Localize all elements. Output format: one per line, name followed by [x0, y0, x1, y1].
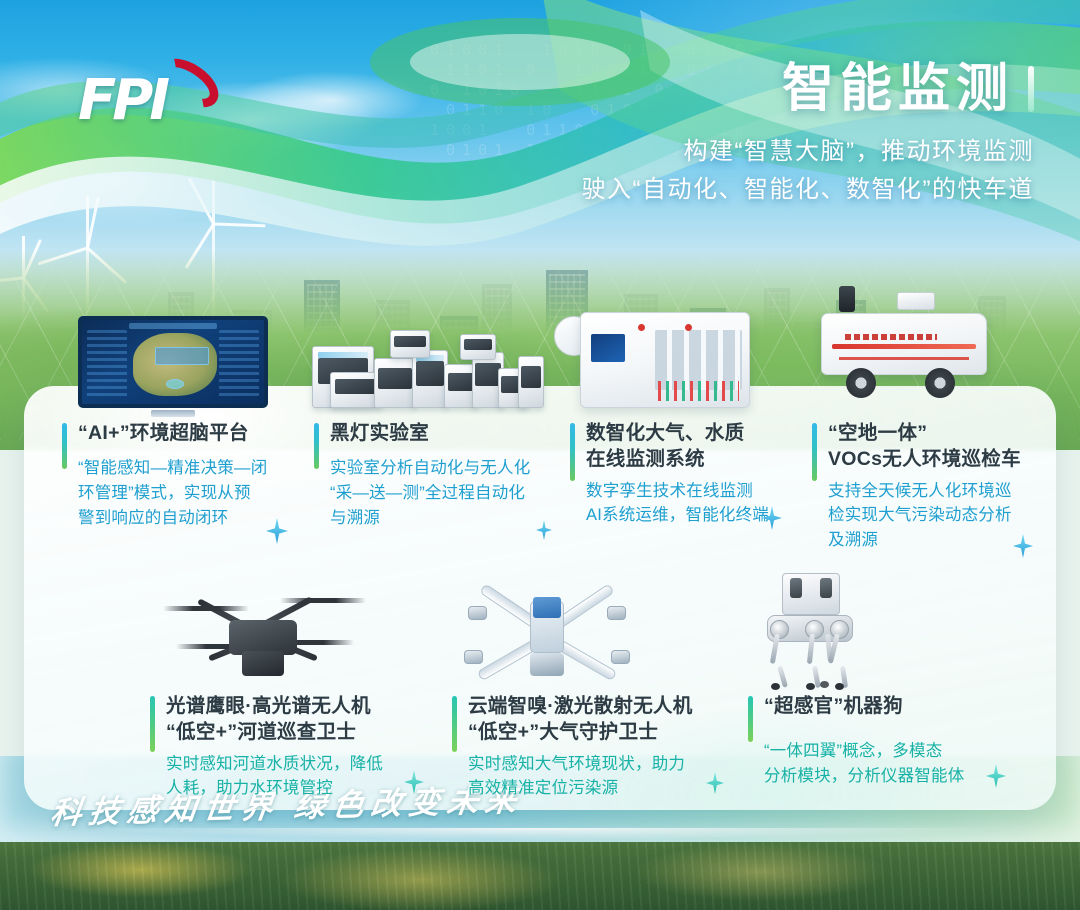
card-accent-bar: [150, 696, 155, 752]
sparkle-icon: [266, 518, 288, 544]
poster-header: 智能监测 构建“智慧大脑”，推动环境监测 驶入“自动化、智能化、数智化”的快车道: [582, 58, 1034, 208]
card-accent-bar: [570, 423, 575, 481]
feature-card-6[interactable]: 云端智嗅·激光散射无人机 “低空+”大气守护卫士 实时感知大气环境现状，助力 高…: [452, 693, 724, 801]
sparkle-icon: [986, 764, 1006, 788]
card-accent-bar: [748, 696, 753, 742]
page-title-text: 智能监测: [782, 60, 1014, 118]
feature-card-1[interactable]: “AI+”环境超脑平台 “智能感知—精准决策—闭 环管理”模式，实现从预 警到响…: [62, 420, 306, 531]
header-subtitle-line2: 驶入“自动化、智能化、数智化”的快车道: [582, 172, 1034, 208]
card-title: “空地一体” VOCs无人环境巡检车: [812, 420, 1044, 473]
sparkle-icon: [762, 506, 782, 530]
card-title: “AI+”环境超脑平台: [62, 420, 306, 446]
card-description: 实时感知河道水质状况，降低 人耗，助力水环境管控: [150, 752, 422, 802]
card-title: 数智化大气、水质 在线监测系统: [570, 420, 808, 473]
card-description: 实时感知大气环境现状，助力 高效精准定位污染源: [452, 752, 724, 802]
card-description: 支持全天候无人化环境巡 检实现大气污染动态分析 及溯源: [812, 479, 1044, 553]
page-title: 智能监测: [782, 58, 1034, 120]
feature-card-5[interactable]: 光谱鹰眼·高光谱无人机 “低空+”河道巡查卫士 实时感知河道水质状况，降低 人耗…: [150, 693, 422, 801]
logo-text: FPI: [78, 68, 166, 133]
card-title: 云端智嗅·激光散射无人机 “低空+”大气守护卫士: [452, 693, 724, 746]
brand-logo: FPI: [78, 62, 248, 132]
card-accent-bar: [62, 423, 67, 469]
title-accent-bar: [1028, 66, 1034, 112]
card-title: 黑灯实验室: [314, 420, 566, 446]
header-subtitle-line1: 构建“智慧大脑”，推动环境监测: [582, 134, 1034, 170]
feature-card-2[interactable]: 黑灯实验室 实验室分析自动化与无人化 “采—送—测”全过程自动化 与溯源: [314, 420, 566, 531]
card-accent-bar: [812, 423, 817, 481]
sparkle-icon: [1013, 534, 1033, 558]
card-description: “一体四翼”概念，多模态 分析模块，分析仪器智能体: [748, 739, 1010, 789]
card-title: 光谱鹰眼·高光谱无人机 “低空+”河道巡查卫士: [150, 693, 422, 746]
card-description: 实验室分析自动化与无人化 “采—送—测”全过程自动化 与溯源: [314, 456, 566, 530]
feature-card-4[interactable]: “空地一体” VOCs无人环境巡检车 支持全天候无人化环境巡 检实现大气污染动态…: [812, 420, 1044, 553]
card-accent-bar: [314, 423, 319, 469]
sparkle-icon: [536, 520, 552, 540]
sparkle-icon: [404, 770, 424, 794]
card-title: “超感官”机器狗: [748, 693, 1010, 719]
card-accent-bar: [452, 696, 457, 752]
poster-canvas: 01001 1010 01 0110 1101 0 10011 0101 0 1…: [0, 0, 1080, 910]
sparkle-icon: [706, 772, 724, 794]
feature-card-7[interactable]: “超感官”机器狗 “一体四翼”概念，多模态 分析模块，分析仪器智能体: [748, 693, 1010, 789]
